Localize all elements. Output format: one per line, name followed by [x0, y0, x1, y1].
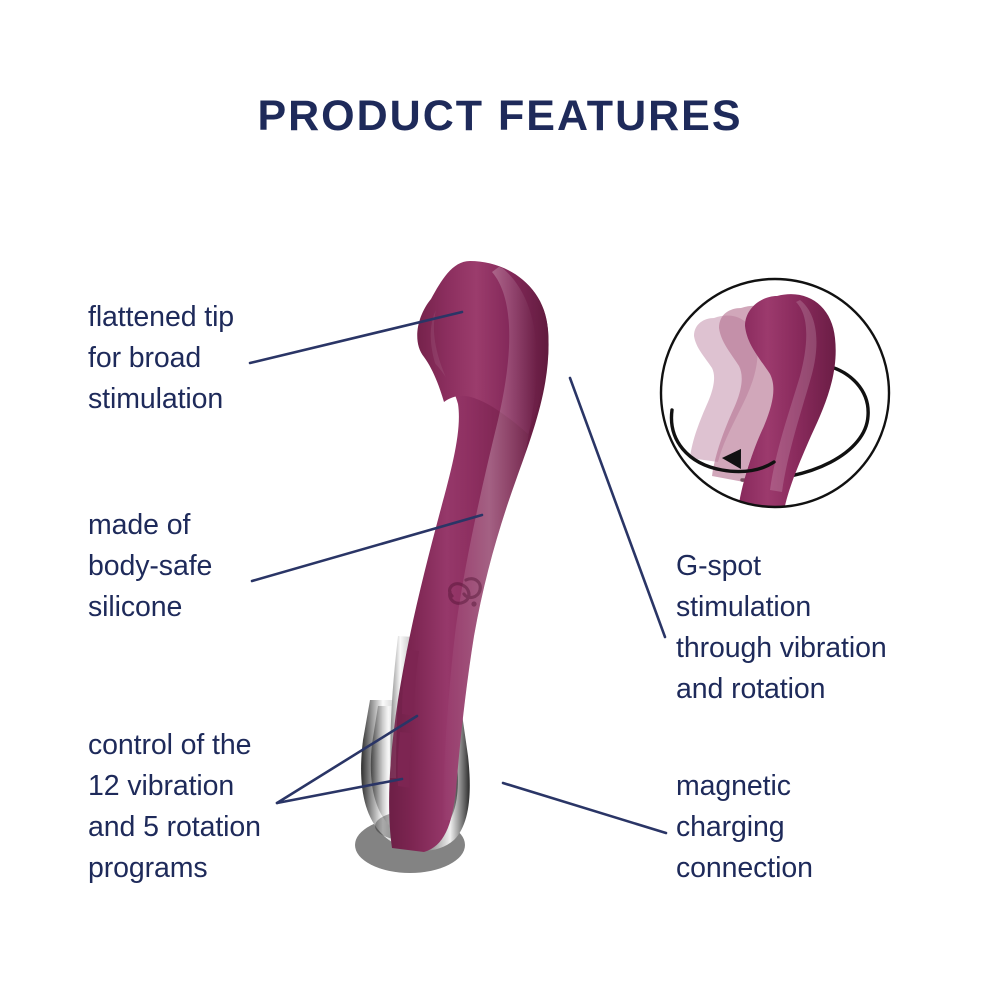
callout-line: G-spot — [676, 546, 887, 587]
callout-line: made of — [88, 505, 212, 546]
callout-gspot-stimulation: G-spot stimulation through vibration and… — [676, 546, 887, 710]
callout-line: through vibration — [676, 628, 887, 669]
callout-line: flattened tip — [88, 297, 234, 338]
callout-magnetic-charging: magnetic charging connection — [676, 766, 813, 889]
callout-line: control of the — [88, 725, 261, 766]
callout-line: magnetic — [676, 766, 813, 807]
callout-line: and 5 rotation — [88, 807, 261, 848]
callout-line: for broad — [88, 338, 234, 379]
callout-control-programs: control of the 12 vibration and 5 rotati… — [88, 725, 261, 889]
product-body-group — [355, 261, 549, 873]
callout-line: stimulation — [88, 379, 234, 420]
callout-line: charging — [676, 807, 813, 848]
callout-line: and rotation — [676, 669, 887, 710]
product-features-infographic: PRODUCT FEATURES — [0, 0, 1000, 1000]
callout-line: body-safe — [88, 546, 212, 587]
callout-body-safe-silicone: made of body-safe silicone — [88, 505, 212, 628]
rotation-inset — [661, 279, 889, 516]
callout-line: 12 vibration — [88, 766, 261, 807]
callout-flattened-tip: flattened tip for broad stimulation — [88, 297, 234, 420]
callout-line: stimulation — [676, 587, 887, 628]
callout-line: silicone — [88, 587, 212, 628]
callout-line: connection — [676, 848, 813, 889]
callout-line: programs — [88, 848, 261, 889]
